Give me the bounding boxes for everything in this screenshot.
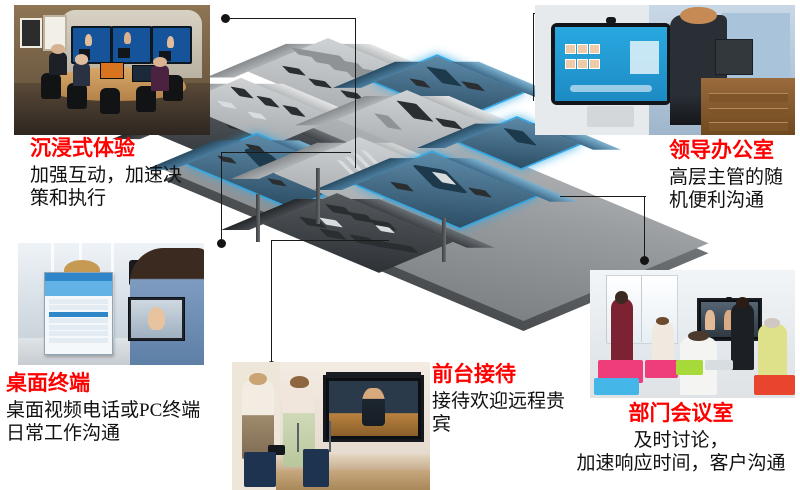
callout-executive-body-line2: 机便利沟通: [669, 189, 799, 212]
connector-dot-desktop: [217, 239, 226, 248]
connector-line-desktop-v: [221, 152, 222, 240]
connector-line-meetingroom-v: [644, 196, 645, 258]
connector-line-reception-h: [271, 240, 389, 241]
callout-executive-body-line1: 高层主管的随: [669, 166, 799, 189]
pillar: [442, 218, 446, 262]
photo-department-meeting-room: [590, 270, 795, 398]
callout-meetingroom: 部门会议室 及时讨论， 加速响应时间，客户沟通: [562, 402, 800, 475]
photo-executive-office: [535, 5, 795, 135]
callout-immersive-heading: 沉浸式体验: [30, 137, 210, 161]
callout-executive-heading: 领导办公室: [669, 139, 799, 163]
person: [731, 303, 754, 370]
diagram-canvas: 沉浸式体验 加强互动，加速决 策和执行 桌面终端 桌面视频电话或PC终端 日常工…: [0, 0, 800, 490]
photo-reception: [232, 362, 430, 490]
callout-immersive: 沉浸式体验 加强互动，加速决 策和执行: [30, 137, 210, 210]
connector-line-executive-v: [533, 13, 534, 101]
callout-immersive-body-line2: 策和执行: [30, 187, 210, 210]
callout-desktop: 桌面终端 桌面视频电话或PC终端 日常工作沟通: [6, 372, 236, 445]
callout-immersive-body-line1: 加强互动，加速决: [30, 164, 210, 187]
callout-meetingroom-heading: 部门会议室: [562, 402, 800, 426]
callout-meetingroom-body-line1: 及时讨论，: [562, 429, 800, 452]
photo-desktop-terminal: [18, 243, 204, 365]
photo-immersive-telepresence: [14, 5, 210, 135]
connector-line-immersive-v: [355, 18, 356, 168]
connector-line-meetingroom-h: [560, 196, 646, 197]
connector-line-desktop-h: [221, 152, 351, 153]
luggage: [303, 449, 329, 487]
callout-desktop-body-line1: 桌面视频电话或PC终端: [6, 399, 236, 422]
callout-meetingroom-body-line2: 加速响应时间，客户沟通: [562, 452, 800, 475]
callout-reception-heading: 前台接待: [432, 363, 612, 387]
connector-line-immersive-h: [226, 18, 356, 19]
callout-desktop-heading: 桌面终端: [6, 372, 236, 396]
person: [652, 321, 675, 365]
callout-executive: 领导办公室 高层主管的随 机便利沟通: [669, 139, 799, 212]
person: [758, 324, 787, 383]
pillar: [256, 194, 260, 242]
pillar: [316, 168, 320, 224]
callout-desktop-body-line2: 日常工作沟通: [6, 422, 236, 445]
connector-line-reception-v: [271, 240, 272, 364]
luggage: [244, 452, 276, 488]
